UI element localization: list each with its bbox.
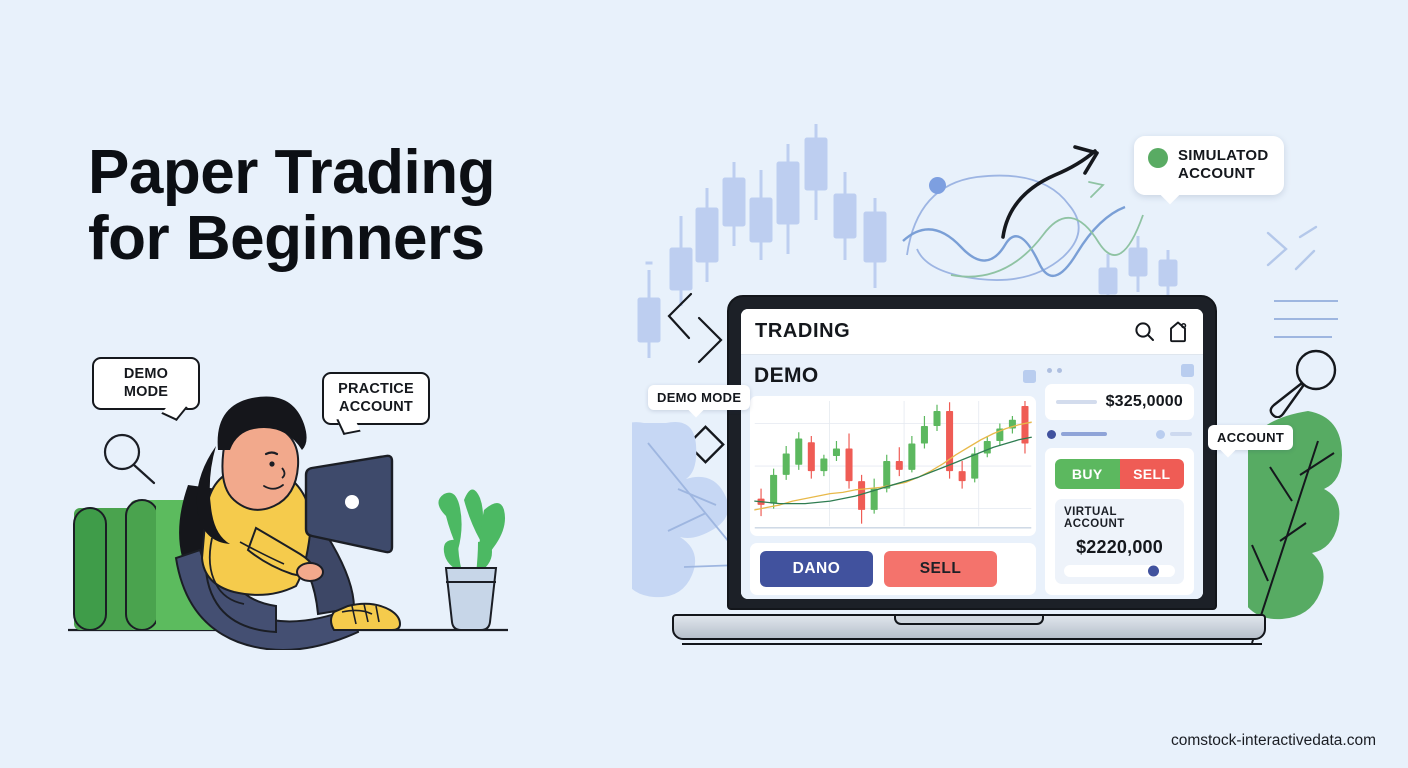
app-title: TRADING: [755, 320, 850, 343]
callout-demo-mode: DEMO MODE: [648, 385, 750, 410]
callout-account: ACCOUNT: [1208, 425, 1293, 450]
page-title-line2: for Beginners: [88, 206, 648, 272]
decorative-dot: [929, 177, 946, 194]
toggle-dot-inactive[interactable]: [1156, 430, 1165, 439]
bag-icon[interactable]: [1168, 321, 1189, 343]
balance-slider[interactable]: [1064, 565, 1175, 577]
price-value: $325,0000: [1106, 393, 1183, 411]
page-title: Paper Trading for Beginners: [88, 140, 648, 271]
laptop-trackpad-notch: [894, 616, 1044, 625]
app-header: TRADING: [741, 309, 1203, 355]
footer-url: comstock-interactivedata.com: [1171, 732, 1376, 750]
price-card: $325,0000: [1045, 384, 1194, 420]
app-body: DEMO DANO SELL: [741, 355, 1203, 599]
desk-line: [682, 643, 1262, 645]
header-icon-group: [1134, 321, 1189, 343]
status-dot-icon: [1148, 148, 1168, 168]
dano-button[interactable]: DANO: [760, 551, 873, 587]
laptop-base: [672, 614, 1266, 640]
callout-simulated-line2: ACCOUNT: [1178, 165, 1255, 182]
toggle-bar-inactive[interactable]: [1170, 432, 1192, 436]
toggle-bar-active[interactable]: [1061, 432, 1107, 436]
price-bar: [1056, 400, 1097, 404]
trade-card: BUY SELL VIRTUAL ACCOUNT $2220,000: [1045, 448, 1194, 595]
search-icon[interactable]: [1134, 321, 1155, 342]
account-column: $325,0000 BUY SELL: [1045, 363, 1194, 595]
poster-canvas: Paper Trading for Beginners DEMO MODE PR…: [0, 0, 1408, 768]
toggle-row: [1045, 427, 1194, 441]
status-dot: [1057, 368, 1062, 373]
candlestick-chart-svg: [750, 396, 1036, 536]
laptop-lid: TRADING: [727, 295, 1217, 610]
status-dots-row: [1045, 363, 1194, 377]
buy-sell-toggle: BUY SELL: [1055, 459, 1184, 489]
virtual-account-box: VIRTUAL ACCOUNT $2220,000: [1055, 499, 1184, 584]
callout-simulated-account: SIMULATOD ACCOUNT: [1134, 136, 1284, 195]
virtual-account-label: VIRTUAL ACCOUNT: [1064, 506, 1175, 530]
decorative-squiggle-lines: [895, 135, 1145, 295]
decorative-lines: [1272, 297, 1342, 341]
status-dot: [1047, 368, 1052, 373]
callout-simulated-line1: SIMULATOD: [1178, 147, 1268, 164]
buy-button[interactable]: BUY: [1055, 459, 1119, 489]
candlestick-chart[interactable]: [750, 396, 1036, 536]
person-sitting-with-laptop-illustration: [60, 390, 530, 650]
callout-simulated-text: SIMULATOD ACCOUNT: [1178, 147, 1268, 183]
demo-heading: DEMO: [750, 363, 819, 389]
chip-square: [1181, 364, 1194, 377]
page-title-line1: Paper Trading: [88, 140, 648, 206]
sell-toggle-button[interactable]: SELL: [1120, 459, 1184, 489]
slider-knob[interactable]: [1148, 566, 1159, 577]
toggle-dot-active[interactable]: [1047, 430, 1056, 439]
callout-tail: [1159, 182, 1182, 205]
laptop-screen: TRADING: [741, 309, 1203, 599]
chip-square: [1023, 370, 1036, 383]
bubble-line1: DEMO: [107, 366, 185, 384]
sell-button[interactable]: SELL: [884, 551, 997, 587]
code-bracket-icon-right: [1258, 225, 1328, 285]
laptop-mockup: TRADING: [672, 295, 1266, 640]
virtual-account-value: $2220,000: [1076, 537, 1163, 558]
magnifier-icon-right: [1264, 348, 1344, 418]
chart-column: DEMO DANO SELL: [750, 363, 1036, 595]
order-action-bar: DANO SELL: [750, 543, 1036, 595]
